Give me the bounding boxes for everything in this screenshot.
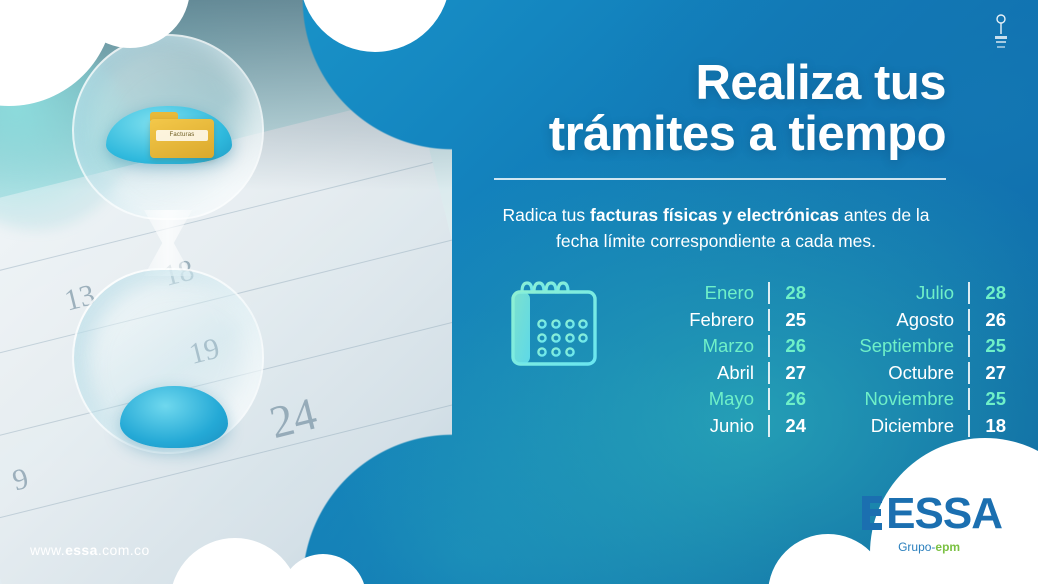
deadline-table: Enero 28 Febrero 25 Marzo 26 Abril 27 Ma… — [622, 282, 1012, 441]
month-day: 25 — [968, 388, 1012, 410]
table-row: Febrero 25 — [622, 309, 812, 336]
month-day: 25 — [768, 309, 812, 331]
month-day: 26 — [768, 388, 812, 410]
grupo-epm-label: Grupo-epm — [856, 540, 1002, 554]
url-post: .com.co — [98, 542, 150, 558]
month-name: Julio — [838, 282, 968, 304]
table-row: Julio 28 — [838, 282, 1012, 309]
month-day: 25 — [968, 335, 1012, 357]
month-day: 28 — [768, 282, 812, 304]
month-name: Junio — [622, 415, 768, 437]
headline-line-2: trámites a tiempo — [549, 109, 946, 160]
table-row: Septiembre 25 — [838, 335, 1012, 362]
table-row: Diciembre 18 — [838, 415, 1012, 442]
subheadline: Radica tus facturas físicas y electrónic… — [486, 202, 946, 255]
table-row: Mayo 26 — [622, 388, 812, 415]
month-day: 18 — [968, 415, 1012, 437]
month-name: Enero — [622, 282, 768, 304]
month-name: Septiembre — [838, 335, 968, 357]
month-day: 27 — [768, 362, 812, 384]
month-name: Agosto — [838, 309, 968, 331]
month-day: 28 — [968, 282, 1012, 304]
epm-text: epm — [935, 540, 960, 554]
month-name: Diciembre — [838, 415, 968, 437]
essa-logo-mark-icon — [856, 493, 886, 535]
title-underline — [494, 178, 946, 180]
deadline-column-first-half: Enero 28 Febrero 25 Marzo 26 Abril 27 Ma… — [622, 282, 812, 441]
table-row: Abril 27 — [622, 362, 812, 389]
month-day: 26 — [968, 309, 1012, 331]
month-name: Octubre — [838, 362, 968, 384]
subhead-pre: Radica tus — [502, 205, 590, 225]
table-row: Octubre 27 — [838, 362, 1012, 389]
folder-icon: Facturas — [150, 112, 214, 158]
folder-label: Facturas — [156, 130, 208, 141]
month-name: Febrero — [622, 309, 768, 331]
month-name: Noviembre — [838, 388, 968, 410]
poster-canvas: 21 13 18 19 9 24 Facturas — [0, 0, 1038, 584]
grupo-text: Grupo- — [898, 540, 935, 554]
essa-logo-wordmark: ESSA — [886, 492, 1002, 536]
hourglass-icon: Facturas — [58, 18, 278, 488]
month-day: 24 — [768, 415, 812, 437]
month-day: 26 — [768, 335, 812, 357]
calendar-icon — [504, 278, 604, 370]
website-url[interactable]: www.essa.com.co — [30, 542, 150, 558]
crest-icon — [990, 12, 1012, 52]
table-row: Noviembre 25 — [838, 388, 1012, 415]
table-row: Agosto 26 — [838, 309, 1012, 336]
calendar-photo-number: 9 — [9, 462, 32, 499]
url-pre: www. — [30, 542, 65, 558]
month-name: Marzo — [622, 335, 768, 357]
table-row: Marzo 26 — [622, 335, 812, 362]
url-bold: essa — [65, 542, 98, 558]
hourglass-neck — [144, 210, 192, 276]
month-name: Abril — [622, 362, 768, 384]
page-title: Realiza tus trámites a tiempo — [549, 58, 946, 161]
deadline-column-second-half: Julio 28 Agosto 26 Septiembre 25 Octubre… — [812, 282, 1012, 441]
month-name: Mayo — [622, 388, 768, 410]
headline-line-1: Realiza tus — [696, 56, 946, 110]
subhead-bold: facturas físicas y electrónicas — [590, 205, 839, 225]
calendar-photo-number: 21 — [0, 302, 2, 342]
month-day: 27 — [968, 362, 1012, 384]
table-row: Enero 28 — [622, 282, 812, 309]
essa-logo: ESSA Grupo-epm — [856, 492, 1002, 554]
table-row: Junio 24 — [622, 415, 812, 442]
